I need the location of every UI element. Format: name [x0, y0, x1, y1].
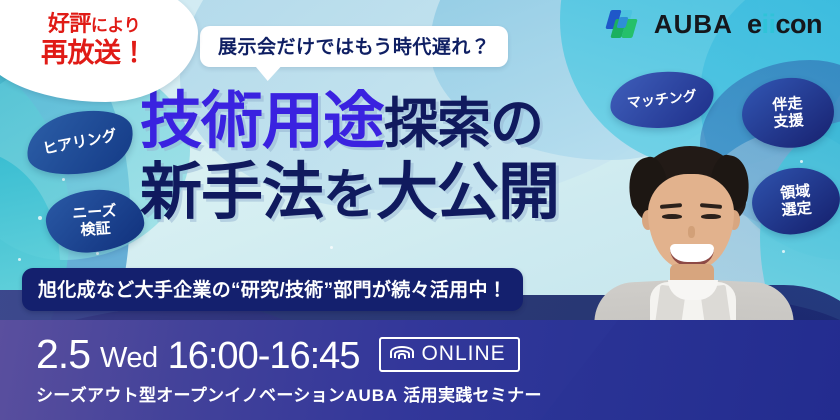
rebroadcast-line-1-main: 好評 — [48, 11, 91, 36]
tagline-pill-tail — [254, 65, 285, 81]
title-rest: 探索の — [384, 94, 543, 154]
keyword-label: ニーズ 検証 — [72, 202, 119, 239]
keyword-label: 伴走 支援 — [772, 95, 804, 131]
event-date: 2.5 — [36, 334, 90, 375]
event-time: 16:00-16:45 — [168, 337, 360, 375]
title-line2-main: 新手法 — [140, 158, 323, 227]
event-info-bar: 2.5 Wed 16:00-16:45 ONLINE シーズアウト型オープンイノ… — [0, 320, 840, 420]
title-highlight: 技術用途 — [140, 87, 384, 156]
seminar-banner: AUBA eiicon ヒアリング ニーズ 検証 マッチング 伴走 支援 領域 … — [0, 0, 840, 420]
keyword-label-line2: 検証 — [80, 220, 111, 239]
sparkle-dot — [38, 216, 42, 220]
tagline-pill: 展示会だけではもう時代遅れ？ — [200, 26, 508, 67]
eiicon-part-dots: ii — [761, 9, 775, 39]
rebroadcast-callout-text: 好評により 再放送！ — [4, 12, 184, 68]
wifi-icon — [391, 346, 413, 362]
sparkle-dot — [800, 160, 803, 163]
nose — [688, 226, 695, 238]
seminar-subtitle: シーズアウト型オープンイノベーションAUBA 活用実践セミナー — [36, 381, 542, 406]
seminar-subtitle-post: 活用実践セミナー — [403, 386, 541, 405]
sparkle-dot — [96, 252, 99, 255]
page-title-line-2: 新手法を大公開 — [140, 163, 559, 224]
title-line2-particle: を — [323, 165, 376, 225]
usage-highlight-text: 旭化成など大手企業の“研究/技術”部門が続々活用中！ — [38, 275, 507, 302]
sparkle-dot — [18, 258, 21, 261]
rebroadcast-line-1: 好評により — [4, 12, 184, 37]
seminar-subtitle-brand: AUBA — [345, 386, 398, 405]
page-title: 技術用途探索の 新手法を大公開 — [140, 92, 559, 224]
title-line2-end: 大公開 — [376, 158, 559, 227]
online-badge: ONLINE — [379, 337, 519, 372]
eiicon-part-1: e — [747, 9, 762, 39]
eye-left — [662, 214, 682, 219]
tagline-text: 展示会だけではもう時代遅れ？ — [218, 32, 490, 59]
auba-diamond-mark-icon — [606, 8, 640, 40]
event-day-of-week: Wed — [100, 344, 158, 375]
rebroadcast-line-1-sub: により — [91, 16, 140, 35]
event-datetime-row: 2.5 Wed 16:00-16:45 ONLINE — [36, 334, 520, 375]
eiicon-part-2: con — [775, 9, 822, 39]
page-title-line-1: 技術用途探索の — [140, 92, 559, 153]
auba-wordmark: AUBA — [654, 9, 733, 40]
sparkle-dot — [62, 178, 65, 181]
event-info-bar-right-wedge — [540, 320, 840, 420]
rebroadcast-line-2: 再放送！ — [4, 38, 184, 68]
seminar-subtitle-pre: シーズアウト型オープンイノベーション — [36, 386, 345, 405]
usage-highlight-bar: 旭化成など大手企業の“研究/技術”部門が続々活用中！ — [22, 268, 523, 311]
keyword-label-line2: 支援 — [773, 112, 804, 131]
sparkle-dot — [330, 246, 333, 249]
keyword-label: マッチング — [626, 88, 697, 111]
eye-right — [701, 214, 721, 219]
brand-logos: AUBA eiicon — [606, 8, 822, 40]
online-badge-label: ONLINE — [421, 342, 505, 366]
keyword-label-line1: 伴走 — [772, 95, 803, 114]
keyword-label: ヒアリング — [42, 127, 119, 158]
eiicon-wordmark: eiicon — [747, 9, 822, 40]
keyword-label-line1: ニーズ — [72, 202, 117, 222]
